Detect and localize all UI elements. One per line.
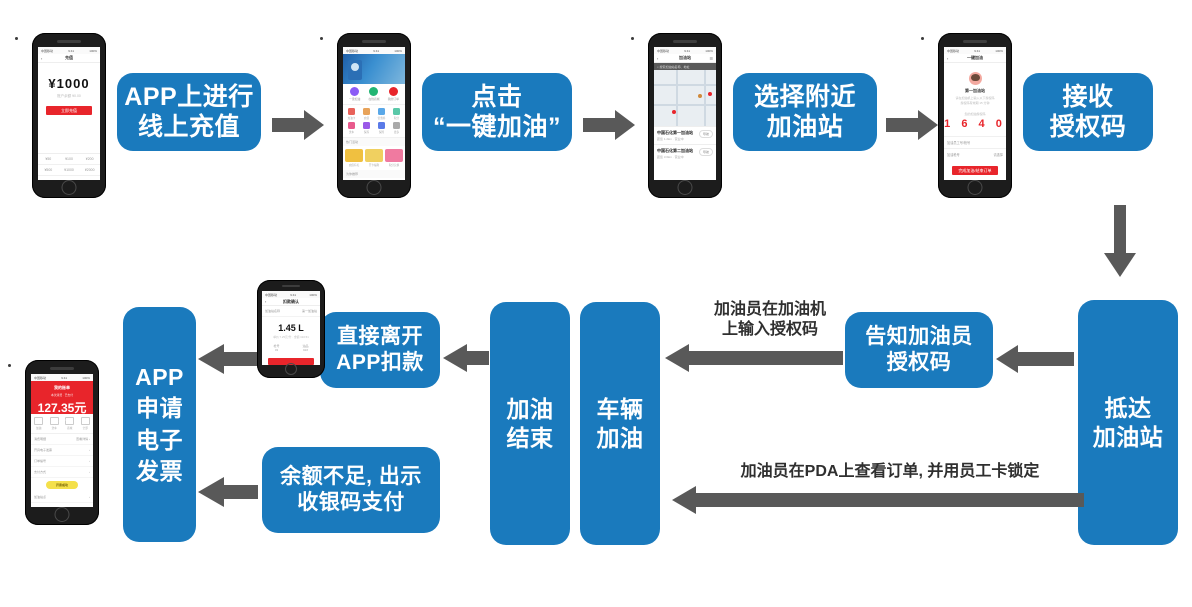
status-battery: 100% (394, 49, 402, 53)
phone-deduct-confirm: 中国移动 9:41 100% ‹ 扣款确认 加油站名称 第一加油站 1.45 L… (257, 280, 325, 378)
status-carrier: 中国移动 (947, 49, 959, 53)
section-title: 热门活动 (343, 138, 405, 146)
bill-title: 我的账单 (31, 381, 93, 391)
promo-card[interactable]: 充值有礼 (345, 149, 363, 167)
home-button-icon[interactable] (55, 507, 70, 522)
list-item-label: 消费明细 (34, 437, 46, 441)
status-time: 9:41 (373, 49, 379, 53)
grid-icon[interactable]: 优惠券 (375, 108, 388, 120)
phone-recharge-screen: 中国移动 9:41 100% ‹ 充值 ¥1000 账户余额 ¥0.00 立即充… (38, 47, 100, 180)
step-box-receive-auth-code[interactable]: 接收 授权码 (1023, 73, 1153, 151)
section-title: 为你推荐 (343, 170, 405, 178)
search-hint: 搜索加油站名称、地址 (660, 65, 690, 69)
promo-card-label: 积分兑换 (385, 163, 403, 167)
status-time: 9:41 (974, 49, 980, 53)
step-box-leave-app-deduct[interactable]: 直接离开 APP扣款 (320, 312, 440, 388)
station-list-item[interactable]: 导航 中国石化第二加油站 距您 3.6km · 营业中 (654, 144, 716, 162)
grid-icon-label: 保险 (375, 130, 388, 134)
phone-deduct-screen: 中国移动 9:41 100% ‹ 扣款确认 加油站名称 第一加油站 1.45 L… (262, 291, 320, 365)
list-item-value: › (89, 459, 90, 463)
list-item[interactable]: 开具电子发票› (31, 445, 93, 456)
nav-bar: ‹ 充值 (38, 54, 100, 63)
status-carrier: 中国移动 (34, 376, 46, 380)
status-carrier: 中国移动 (346, 49, 358, 53)
preset-cell[interactable]: ¥100 (59, 154, 80, 164)
arrow-right-2 (583, 110, 635, 140)
home-button-icon[interactable] (367, 180, 382, 195)
status-battery: 100% (309, 293, 317, 297)
bill-tab-row: 加油 洗车 商城 全部 (31, 414, 93, 434)
grid-icon[interactable]: 洗车 (345, 122, 358, 134)
row-value: 第一加油站 (302, 309, 317, 313)
home-button-icon[interactable] (285, 363, 297, 375)
fuel-volume: 1.45 L (262, 323, 320, 333)
status-carrier: 中国移动 (41, 49, 53, 53)
table-row: ¥500 ¥1000 ¥2000 (38, 165, 100, 176)
grid-icon-label: 优惠券 (375, 116, 388, 120)
arrow-left-tell-to-fueling (665, 344, 843, 372)
nav-bar: ‹ 加油站 ☰ (654, 54, 716, 63)
nav-title: 一键加油 (967, 55, 983, 61)
grid-icon[interactable]: 积分 (390, 108, 403, 120)
home-banner[interactable] (343, 54, 405, 84)
status-time: 9:41 (290, 293, 296, 297)
grid-icon-label: 加油卡 (345, 116, 358, 120)
phone-station-map-screen: 中国移动 9:41 100% ‹ 加油站 ☰ ⌕ 搜索加油站名称、地址 导航 (654, 47, 716, 180)
fuel-price-detail: 单价 7.25元/升 · 金额 ¥10.51 (262, 335, 320, 339)
grid-icon-label: 充值 (360, 116, 373, 120)
phone-speaker (282, 285, 300, 287)
back-icon[interactable]: ‹ (265, 299, 266, 304)
station-list-item[interactable]: 导航 中国石化第一加油站 距您 1.2km · 营业中 (654, 126, 716, 144)
flowchart-canvas: 中国移动 9:41 100% ‹ 充值 ¥1000 账户余额 ¥0.00 立即充… (0, 0, 1192, 607)
status-battery: 100% (705, 49, 713, 53)
list-item-label: 加油站点 (34, 495, 46, 499)
bill-amount: 127.35元 (31, 399, 93, 416)
invoice-success-button[interactable]: 开票成功 (46, 481, 78, 489)
finish-order-button[interactable]: 完成加油/结束订单 (952, 166, 998, 175)
amount-preset-table: ¥50 ¥100 ¥200 ¥500 ¥1000 ¥2000 (38, 153, 100, 176)
status-time: 9:41 (61, 376, 67, 380)
nav-title: 充值 (65, 55, 73, 61)
arrow-left-end-to-deduct (443, 344, 489, 372)
list-item[interactable]: 支付方式› (31, 467, 93, 478)
recharge-submit-button[interactable]: 立即充值 (46, 106, 92, 115)
status-bar: 中国移动 9:41 100% (654, 47, 716, 54)
navigate-button[interactable]: 导航 (699, 130, 713, 138)
phone-speaker (673, 40, 697, 43)
user-location-icon (698, 94, 702, 98)
step-box-recharge[interactable]: APP上进行 线上充值 (117, 73, 261, 151)
list-item-value: 查看详情 › (76, 437, 90, 441)
phone-camera-icon (320, 37, 323, 40)
status-time: 9:41 (68, 49, 74, 53)
station-pin-icon (708, 92, 712, 96)
status-time: 9:41 (684, 49, 690, 53)
preset-cell[interactable]: ¥200 (79, 154, 100, 164)
status-bar: 中国移动 9:41 100% (38, 47, 100, 54)
recharge-amount: ¥1000 (38, 76, 100, 91)
quick-action-row: 一键加油 在线商城 我的订单 (343, 84, 405, 105)
quick-action[interactable]: 我的订单 (386, 87, 400, 101)
bill-discount-note: 优惠立减 ¥8.00 (31, 418, 93, 422)
phone-auth-code-screen: 中国移动 9:41 100% ‹ 一键加油 第一加油站 请在加油机上输入以下授权… (944, 47, 1006, 180)
phone-app-home-screen: 中国移动 9:41 100% 一键加油 在线商城 我的订单 加油卡 充值 优惠券… (343, 47, 405, 180)
row-value: 请选择 (993, 152, 1003, 157)
phone-speaker (362, 40, 386, 43)
status-battery: 100% (995, 49, 1003, 53)
status-bar: 中国移动 9:41 100% (944, 47, 1006, 54)
list-item-label: 订单编号 (34, 459, 46, 463)
status-battery: 100% (82, 376, 90, 380)
grid-icon[interactable]: 充值 (360, 108, 373, 120)
grid-icon-label: 洗车 (345, 130, 358, 134)
phone-station-map: 中国移动 9:41 100% ‹ 加油站 ☰ ⌕ 搜索加油站名称、地址 导航 (648, 33, 722, 198)
list-item-value: › (89, 495, 90, 499)
auth-desc: 请在加油机上输入以下授权码 授权码有效期 15 分钟 (944, 96, 1006, 105)
quick-action-label: 在线商城 (367, 97, 381, 101)
phone-camera-icon (921, 37, 924, 40)
status-bar: 中国移动 9:41 100% (262, 291, 320, 298)
preset-cell[interactable]: ¥50 (38, 154, 59, 164)
promo-cards: 充值有礼 开卡福利 积分兑换 (343, 146, 405, 170)
quick-action[interactable]: 一键加油 (348, 87, 362, 101)
list-item-label: 开具电子发票 (34, 448, 52, 452)
list-item-label: 支付方式 (34, 470, 46, 474)
back-icon[interactable]: ‹ (657, 56, 658, 61)
promo-card-label: 开卡福利 (365, 163, 383, 167)
preset-cell[interactable]: ¥2000 (79, 165, 100, 175)
avatar (969, 72, 982, 85)
table-row: ¥50 ¥100 ¥200 (38, 154, 100, 165)
station-pin-icon (672, 110, 676, 114)
bill-tab-label: 商城 (65, 426, 74, 430)
auth-code-value: 1 6 4 0 (944, 118, 1006, 130)
status-battery: 100% (89, 49, 97, 53)
navigate-button[interactable]: 导航 (699, 148, 713, 156)
step-box-arrive-at-station[interactable]: 抵达 加油站 (1078, 300, 1178, 545)
promo-card[interactable]: 开卡福利 (365, 149, 383, 167)
step-box-choose-nearby-station[interactable]: 选择附近 加油站 (733, 73, 877, 151)
caption-operator-input-code: 加油员在加油机 上输入授权码 (695, 300, 845, 340)
phone-speaker (50, 367, 74, 370)
form-label-row: 加油员工号/枪号 (944, 136, 1006, 148)
grid-icon[interactable]: 保养 (360, 122, 373, 134)
back-icon[interactable]: ‹ (947, 56, 948, 61)
status-bar: 中国移动 9:41 100% (343, 47, 405, 54)
arrow-left-arrive-to-tell (996, 345, 1074, 373)
phone-recharge: 中国移动 9:41 100% ‹ 充值 ¥1000 账户余额 ¥0.00 立即充… (32, 33, 106, 198)
bill-header: 我的账单 本次消费 · 已支付 127.35元 优惠立减 ¥8.00 (31, 381, 93, 414)
step-box-fueling-finished[interactable]: 加油 结束 (490, 302, 570, 545)
arrow-left-insufficient-to-invoice (198, 477, 258, 507)
home-button-icon[interactable] (968, 180, 983, 195)
preset-cell[interactable]: ¥1000 (59, 165, 80, 175)
icon-grid: 加油卡 充值 优惠券 积分 洗车 保养 保险 更多 (343, 105, 405, 138)
arrow-left-deduct-to-invoice (198, 344, 258, 374)
promo-card-label: 充值有礼 (345, 163, 363, 167)
grid-icon[interactable]: 加油卡 (345, 108, 358, 120)
list-item[interactable]: 订单编号› (31, 456, 93, 467)
phone-app-home: 中国移动 9:41 100% 一键加油 在线商城 我的订单 加油卡 充值 优惠券… (337, 33, 411, 198)
home-button-icon[interactable] (678, 180, 693, 195)
quick-action-label: 我的订单 (386, 97, 400, 101)
form-row[interactable]: 加油枪号 请选择 (944, 148, 1006, 160)
phone-bill-invoice: 中国移动 9:41 100% 我的账单 本次消费 · 已支付 127.35元 优… (25, 360, 99, 525)
list-item-value: › (89, 470, 90, 474)
arrow-down-1 (1104, 205, 1136, 277)
fuel-meta-row: 枪号 03 油品 92# (262, 344, 320, 352)
grid-icon-label: 更多 (390, 130, 403, 134)
row-label: 加油枪号 (947, 152, 960, 157)
bill-subtitle: 本次消费 · 已支付 (31, 393, 93, 397)
map-area[interactable] (654, 70, 716, 126)
phone-bill-screen: 中国移动 9:41 100% 我的账单 本次消费 · 已支付 127.35元 优… (31, 374, 93, 507)
row-label: 加油站名称 (265, 309, 280, 313)
step-box-tap-one-key-fuel[interactable]: 点击 “一键加油” (422, 73, 572, 151)
field-label: 加油员工号/枪号 (947, 140, 970, 145)
phone-camera-icon (15, 37, 18, 40)
recharge-balance: 账户余额 ¥0.00 (38, 94, 100, 99)
step-box-vehicle-fueling[interactable]: 车辆 加油 (580, 302, 660, 545)
phone-speaker (963, 40, 987, 43)
step-box-tell-operator-code[interactable]: 告知加油员 授权码 (845, 312, 993, 388)
fuel-type: 油品 92# (302, 344, 308, 352)
status-carrier: 中国移动 (657, 49, 669, 53)
list-item[interactable]: 消费明细查看详情 › (31, 434, 93, 445)
station-name: 第一加油站 (944, 88, 1006, 94)
status-bar: 中国移动 9:41 100% (31, 374, 93, 381)
quick-action-label: 一键加油 (348, 97, 362, 101)
arrow-left-pda-long (672, 486, 1084, 514)
grid-icon-label: 保养 (360, 130, 373, 134)
list-item[interactable]: 加油站点› (31, 492, 93, 503)
filter-icon[interactable]: ☰ (709, 56, 713, 61)
station-row: 加油站名称 第一加油站 (262, 306, 320, 317)
phone-camera-icon (8, 364, 11, 367)
step-box-apply-einvoice[interactable]: APP 申请 电子 发票 (123, 307, 196, 542)
list-item-value: › (89, 448, 90, 452)
bill-tab-label: 洗车 (50, 426, 59, 430)
status-carrier: 中国移动 (265, 293, 277, 297)
back-icon[interactable]: ‹ (41, 56, 42, 61)
nav-bar: ‹ 一键加油 (944, 54, 1006, 63)
search-icon: ⌕ (657, 65, 659, 69)
caption-pda-lock-order: 加油员在PDA上查看订单, 并用员工卡锁定 (690, 462, 1090, 482)
arrow-right-1 (272, 110, 324, 140)
phone-camera-icon (631, 37, 634, 40)
phone-auth-code: 中国移动 9:41 100% ‹ 一键加油 第一加油站 请在加油机上输入以下授权… (938, 33, 1012, 198)
arrow-right-3 (886, 110, 938, 140)
map-search-bar[interactable]: ⌕ 搜索加油站名称、地址 (654, 63, 716, 70)
phone-speaker (57, 40, 81, 43)
nav-title: 扣款确认 (283, 299, 299, 305)
nav-title: 加油站 (679, 55, 691, 61)
grid-icon[interactable]: 保险 (375, 122, 388, 134)
promo-card[interactable]: 积分兑换 (385, 149, 403, 167)
bill-tab-label: 加油 (34, 426, 43, 430)
preset-cell[interactable]: ¥500 (38, 165, 59, 175)
home-button-icon[interactable] (62, 180, 77, 195)
gun-number: 枪号 03 (273, 344, 279, 352)
bill-tab-label: 全部 (81, 426, 90, 430)
nav-bar: ‹ 扣款确认 (262, 298, 320, 306)
banner-figure-icon (348, 60, 362, 80)
step-box-insufficient-balance[interactable]: 余额不足, 出示 收银码支付 (262, 447, 440, 533)
grid-icon[interactable]: 更多 (390, 122, 403, 134)
auth-code-label: 您的加油授权码 (944, 112, 1006, 116)
quick-action[interactable]: 在线商城 (367, 87, 381, 101)
grid-icon-label: 积分 (390, 116, 403, 120)
